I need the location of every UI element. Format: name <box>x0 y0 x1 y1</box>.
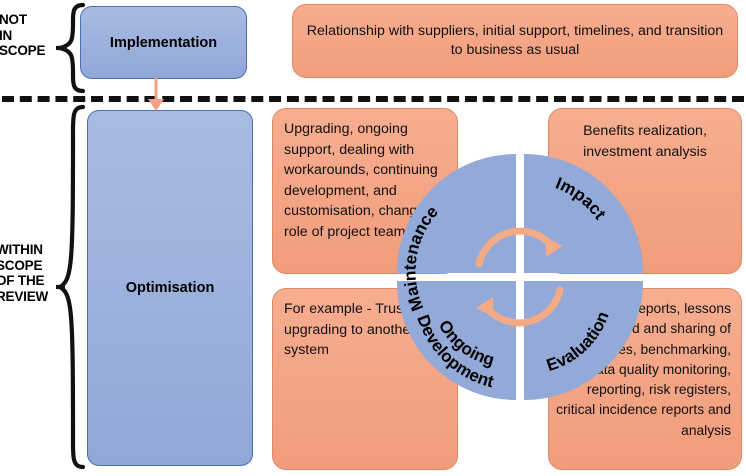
stage-label-optimisation: Optimisation <box>126 280 215 296</box>
stage-label-implementation: Implementation <box>110 35 217 51</box>
description-box-relationship[interactable]: Relationship with suppliers, initial sup… <box>292 4 738 78</box>
optimisation-cycle-wheel: Maintenance Impact Ongoing Development E… <box>397 154 643 400</box>
stage-box-optimisation[interactable]: Optimisation <box>87 110 253 466</box>
diagram-canvas: NOT IN SCOPE WITHIN SCOPE OF THE REVIEW … <box>0 0 746 476</box>
scope-divider <box>2 96 744 102</box>
description-text-relationship: Relationship with suppliers, initial sup… <box>293 22 737 61</box>
scope-label-not-in-scope: NOT IN SCOPE <box>0 12 57 59</box>
brace-within-scope-icon <box>56 104 86 470</box>
flow-arrow-down-icon <box>143 78 169 112</box>
stage-box-implementation[interactable]: Implementation <box>80 6 247 79</box>
scope-label-within-scope: WITHIN SCOPE OF THE REVIEW <box>0 242 60 304</box>
wheel-rotation-arrows <box>397 154 643 400</box>
